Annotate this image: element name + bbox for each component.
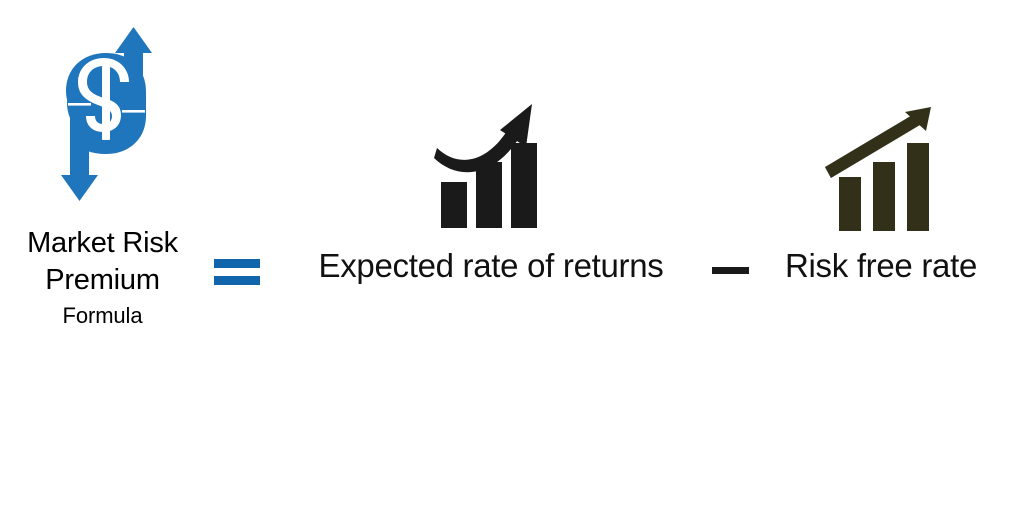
middle-term-text: Expected rate of returns: [284, 245, 698, 287]
bar-3: [511, 143, 537, 228]
formula-canvas: Market Risk Premium Formula: [0, 0, 1024, 526]
bar-2: [873, 162, 895, 231]
bar-1: [839, 177, 861, 231]
right-term-group: Risk free rate: [757, 105, 1005, 300]
middle-term-group: Expected rate of returns: [284, 100, 698, 300]
left-term-label-line1: Market Risk: [0, 225, 205, 262]
left-term-label-line2: Premium: [0, 262, 205, 299]
minus-bar: [712, 267, 749, 274]
minus-operator-icon: [712, 263, 749, 279]
bar-chart-straight-up-arrow-icon: [819, 105, 944, 235]
right-term-text: Risk free rate: [757, 245, 1005, 287]
left-term-label: Market Risk Premium Formula: [0, 225, 205, 333]
left-term-label-line3: Formula: [0, 299, 205, 333]
money-up-down-arrows-dollar-icon: [52, 25, 160, 205]
bar-chart-curved-up-arrow-icon: [429, 100, 554, 235]
equals-bar-top: [214, 259, 260, 268]
bar-2: [476, 162, 502, 228]
equals-operator-icon: [214, 255, 260, 287]
left-term-group: Market Risk Premium Formula: [0, 20, 205, 330]
bar-1: [441, 182, 467, 228]
bar-3: [907, 143, 929, 231]
equals-bar-bottom: [214, 276, 260, 285]
